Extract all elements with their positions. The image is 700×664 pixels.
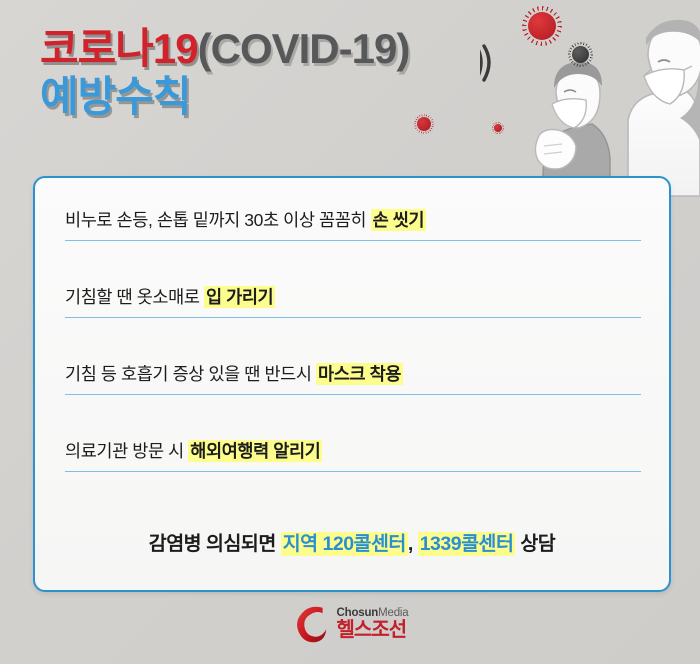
row-divider xyxy=(65,240,641,242)
rule-plain-text: 비누로 손등, 손톱 밑까지 30초 이상 꼼꼼히 xyxy=(65,210,371,230)
rule-highlight-text: 입 가리기 xyxy=(204,286,275,308)
poster-title-line-2: 예방수칙 xyxy=(40,76,560,118)
poster-title-line-1: 코로나19(COVID-19) xyxy=(40,28,560,70)
brand-name-en: ChosunMedia xyxy=(337,607,409,619)
title-prevention-rules: 예방수칙 xyxy=(40,73,191,120)
call-center-1339: 1339콜센터 xyxy=(418,532,516,556)
brand-name-en-bold: Chosun xyxy=(337,607,379,619)
call-center-local-120: 지역 120콜센터 xyxy=(281,532,408,556)
rule-highlight-text: 손 씻기 xyxy=(371,209,427,231)
rule-text-travel-history: 의료기관 방문 시 해외여행력 알리기 xyxy=(65,438,322,463)
call-center-lead: 감염병 의심되면 xyxy=(149,533,281,555)
rule-row-hand-washing: 비누로 손등, 손톱 밑까지 30초 이상 꼼꼼히 손 씻기 xyxy=(35,178,669,255)
row-divider xyxy=(65,317,641,319)
prevention-rules-list: 비누로 손등, 손톱 밑까지 30초 이상 꼼꼼히 손 씻기 기침할 땐 옷소매… xyxy=(35,178,669,486)
rule-text-wear-mask: 기침 등 호흡기 증상 있을 땐 반드시 마스크 착용 xyxy=(65,361,403,386)
brand-text: ChosunMedia 헬스조선 xyxy=(337,607,409,641)
rule-row-travel-history: 의료기관 방문 시 해외여행력 알리기 xyxy=(35,409,669,486)
rule-row-cough-sleeve: 기침할 땐 옷소매로 입 가리기 xyxy=(35,255,669,332)
rule-plain-text: 기침할 땐 옷소매로 xyxy=(65,287,204,307)
brand-name-kr: 헬스조선 xyxy=(337,620,409,641)
call-center-tail: 상담 xyxy=(515,533,555,555)
title-covid19: (COVID-19) xyxy=(198,25,410,72)
rule-highlight-text: 해외여행력 알리기 xyxy=(188,440,322,462)
rule-highlight-text: 마스크 착용 xyxy=(316,363,403,385)
rule-plain-text: 의료기관 방문 시 xyxy=(65,441,188,461)
rule-plain-text: 기침 등 호흡기 증상 있을 땐 반드시 xyxy=(65,364,316,384)
virus-particle-icon xyxy=(572,46,589,63)
brand-logo: ChosunMedia 헬스조선 xyxy=(0,602,700,646)
rule-text-cough-sleeve: 기침할 땐 옷소매로 입 가리기 xyxy=(65,284,275,309)
virus-particle-icon xyxy=(417,117,431,131)
poster-canvas: 코로나19(COVID-19) 예방수칙 비누로 손등, 손톱 밑까지 30초 … xyxy=(0,0,700,664)
call-center-line: 감염병 의심되면 지역 120콜센터, 1339콜센터 상담 xyxy=(35,527,669,556)
row-divider xyxy=(65,471,641,473)
brand-name-en-light: Media xyxy=(378,607,408,619)
call-center-separator: , xyxy=(408,533,418,555)
virus-particle-icon xyxy=(494,124,502,132)
chosun-media-c-mark-icon xyxy=(292,602,328,646)
rule-text-hand-washing: 비누로 손등, 손톱 밑까지 30초 이상 꼼꼼히 손 씻기 xyxy=(65,207,426,232)
poster-header: 코로나19(COVID-19) 예방수칙 xyxy=(40,28,560,118)
title-korona19: 코로나19 xyxy=(40,25,198,72)
prevention-rules-card: 비누로 손등, 손톱 밑까지 30초 이상 꼼꼼히 손 씻기 기침할 땐 옷소매… xyxy=(33,176,671,592)
row-divider xyxy=(65,394,641,396)
rule-row-wear-mask: 기침 등 호흡기 증상 있을 땐 반드시 마스크 착용 xyxy=(35,332,669,409)
